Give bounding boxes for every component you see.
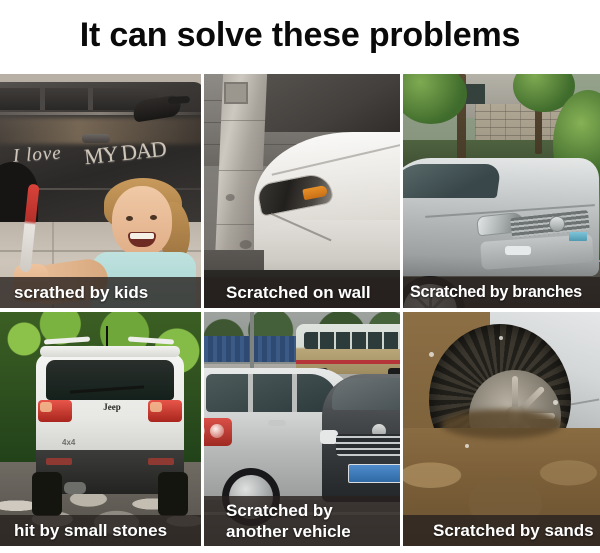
child-eye — [150, 215, 157, 220]
caption-bar: Scratched by branches — [403, 277, 600, 308]
license-plate — [348, 464, 400, 483]
bus-stripe — [296, 360, 400, 364]
grid-row-1: I love MY DAD — [0, 74, 600, 308]
caption-bar: Scratched by another vehicle — [204, 496, 400, 546]
tail-light — [204, 418, 232, 446]
mud-splash — [403, 408, 600, 448]
caption-bar: Scratched by sands — [403, 515, 600, 546]
window-pillar — [248, 374, 253, 412]
turn-signal — [302, 185, 328, 200]
exhaust-tip — [64, 482, 86, 494]
silver-sedan-body — [403, 158, 599, 276]
rear-tyre — [158, 472, 188, 516]
window-pillar — [40, 88, 45, 110]
child-eye — [126, 216, 133, 221]
license-plate — [569, 232, 587, 241]
bumper-reflector — [46, 458, 72, 465]
brand-emblem — [549, 216, 565, 232]
window-pillar — [292, 374, 297, 412]
rear-tyre — [32, 472, 62, 516]
brand-badge: Jeep — [94, 402, 130, 412]
photo-two-car-collision: Scratched by another vehicle — [204, 312, 400, 546]
dark-sedan-body — [322, 374, 400, 502]
photo-muddy-wheel: Scratched by sands — [403, 312, 600, 546]
antenna — [106, 326, 108, 348]
rear-spoiler — [40, 346, 180, 357]
tail-lamp-bulb — [204, 424, 205, 438]
door-handle — [268, 420, 286, 426]
photo-suv-on-rocks: Jeep 4x4 4L4T hit by small stones — [0, 312, 201, 546]
tail-lamp-bulb — [210, 424, 224, 438]
fog-light — [505, 246, 531, 255]
windshield — [403, 164, 501, 198]
photo-dark-car-child: I love MY DAD — [0, 74, 201, 308]
child-teeth — [130, 233, 154, 239]
photo-car-against-wall: Scratched on wall — [204, 74, 400, 308]
caption-line-2: another vehicle — [226, 521, 400, 542]
grid-cell-scratched-by-another-vehicle[interactable]: Scratched by another vehicle — [204, 312, 400, 546]
tail-light — [38, 400, 72, 422]
rear-window — [46, 360, 174, 400]
side-windows — [206, 374, 338, 412]
poster: It can solve these problems I lov — [0, 0, 600, 553]
bumper-reflector — [148, 458, 174, 465]
grid-cell-scratched-on-wall[interactable]: Scratched on wall — [204, 74, 400, 308]
light-pole — [250, 312, 254, 374]
bus-windows — [304, 332, 400, 349]
caption-bar: scrathed by kids — [0, 277, 201, 308]
photo-silver-sedan-trees: Scratched by branches — [403, 74, 600, 308]
grid-row-2: Jeep 4x4 4L4T hit by small stones — [0, 312, 600, 546]
background-bus — [296, 324, 400, 374]
front-grille — [336, 434, 400, 456]
window-pillar — [88, 88, 93, 110]
grid-cell-hit-by-small-stones[interactable]: Jeep 4x4 4L4T hit by small stones — [0, 312, 201, 546]
windshield — [332, 378, 400, 410]
trim-badge: 4x4 — [62, 438, 75, 447]
grid-cell-scratched-by-branches[interactable]: Scratched by branches — [403, 74, 600, 308]
grid-cell-scratched-by-kids[interactable]: I love MY DAD — [0, 74, 201, 308]
wall-fixture — [224, 82, 248, 104]
page-title: It can solve these problems — [0, 0, 600, 70]
suv-rear-body: Jeep 4x4 4L4T — [36, 354, 184, 478]
grid-cell-scratched-by-sands[interactable]: Scratched by sands — [403, 312, 600, 546]
image-grid: I love MY DAD — [0, 74, 600, 549]
shadowed-wall-area — [262, 74, 400, 132]
caption-bar: Scratched on wall — [204, 277, 400, 308]
tail-light — [148, 400, 182, 422]
caption-line-1: Scratched by — [226, 500, 400, 521]
caption-bar: hit by small stones — [0, 515, 201, 546]
